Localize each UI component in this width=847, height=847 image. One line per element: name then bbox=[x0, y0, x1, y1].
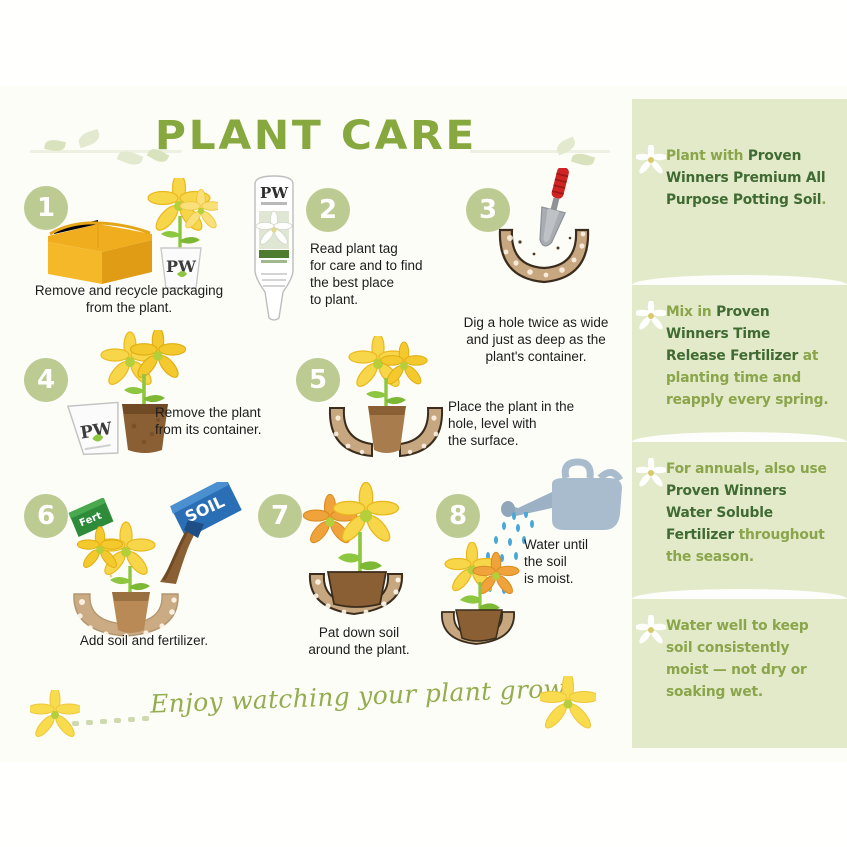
art-rootball-plant bbox=[92, 330, 202, 460]
tip-text-2: Mix in Proven Winners Time Release Ferti… bbox=[666, 301, 829, 411]
daisy-icon bbox=[636, 458, 666, 488]
flower-icon-left bbox=[30, 690, 80, 740]
art-patted-soil-plant bbox=[288, 482, 438, 622]
art-trowel-digging bbox=[486, 168, 626, 288]
dotted-trail bbox=[72, 718, 158, 726]
art-plant-soil-fill bbox=[58, 510, 228, 640]
wave-divider-3 bbox=[632, 589, 847, 599]
daisy-icon bbox=[636, 145, 666, 175]
wave-divider-1 bbox=[632, 275, 847, 285]
step-caption-6: Add soil and fertilizer. bbox=[44, 632, 244, 649]
svg-text:PW: PW bbox=[260, 184, 289, 202]
art-cardboard-box bbox=[40, 218, 160, 288]
step-caption-8: Water until the soil is moist. bbox=[524, 536, 634, 587]
tips-sidebar: Plant with Proven Winners Premium All Pu… bbox=[632, 99, 847, 748]
step-caption-5: Place the plant in the hole, level with … bbox=[448, 398, 608, 449]
art-plant-tag: PW bbox=[243, 174, 305, 322]
step-caption-4: Remove the plant from its container. bbox=[155, 404, 295, 438]
daisy-icon bbox=[636, 615, 666, 645]
tip-text-3: For annuals, also use Proven Winners Wat… bbox=[666, 458, 829, 568]
step-caption-7: Pat down soil around the plant. bbox=[264, 624, 454, 658]
daisy-icon bbox=[636, 301, 666, 331]
step-caption-2: Read plant tag for care and to find the … bbox=[310, 240, 450, 308]
vine-decoration-right bbox=[470, 150, 610, 153]
wave-divider-2 bbox=[632, 432, 847, 442]
tip-text-4: Water well to keep soil consistently moi… bbox=[666, 615, 829, 703]
art-flower-pot-1: PW bbox=[143, 178, 218, 293]
tip-text-1: Plant with Proven Winners Premium All Pu… bbox=[666, 145, 829, 211]
flower-icon-right bbox=[540, 676, 596, 732]
step-caption-1: Remove and recycle packaging from the pl… bbox=[18, 282, 240, 316]
step-number-2: 2 bbox=[306, 188, 350, 232]
infographic-page: PLANT CARE 1 bbox=[0, 0, 847, 847]
